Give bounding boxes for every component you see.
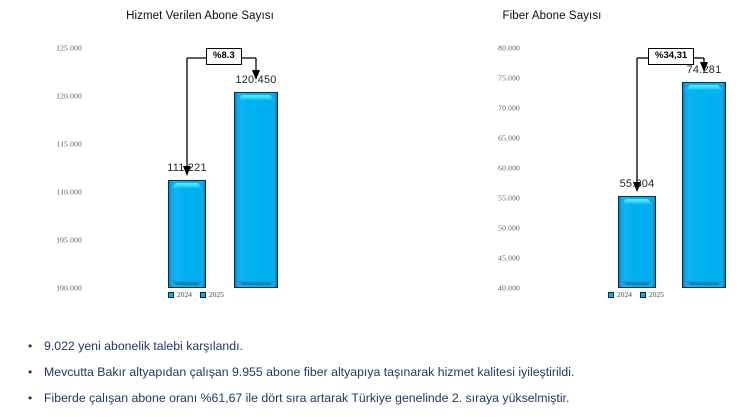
legend-swatch-icon-2025 xyxy=(200,292,206,298)
legend-item-left-2024[interactable]: 2024 xyxy=(168,290,192,299)
plot-area-left: 125.000 120.000 115.000 110.000 105.000 … xyxy=(30,48,410,288)
legend-item-left-2025[interactable]: 2025 xyxy=(200,290,224,299)
y-tick-left-1: 120.000 xyxy=(56,92,82,101)
legend-label-left-2024: 2024 xyxy=(177,290,192,299)
legend-swatch-icon-2024 xyxy=(608,292,614,298)
legend-swatch-icon-2025 xyxy=(640,292,646,298)
legend-label-left-2025: 2025 xyxy=(209,290,224,299)
bars-right: 55.304 74.281 %34,31 xyxy=(524,48,718,288)
y-tick-left-2: 115.000 xyxy=(57,140,83,149)
y-tick-left-0: 125.000 xyxy=(56,44,82,53)
legend-swatch-icon-2024 xyxy=(168,292,174,298)
legend-item-right-2024[interactable]: 2024 xyxy=(608,290,632,299)
legend-right: 2024 2025 xyxy=(608,290,664,299)
bullet-marker-icon: • xyxy=(28,388,44,408)
list-item: • Fiberde çalışan abone oranı %61,67 ile… xyxy=(0,388,740,414)
list-item: • 9.022 yeni abonelik talebi karşılandı. xyxy=(0,336,740,362)
growth-connector-right xyxy=(524,48,740,288)
bullet-marker-icon: • xyxy=(28,336,44,356)
y-tick-left-3: 110.000 xyxy=(57,188,83,197)
y-tick-right-8: 40.000 xyxy=(498,284,520,293)
y-tick-right-6: 50.000 xyxy=(498,224,520,233)
plot-area-right: 80.000 75.000 70.000 65.000 60.000 55.00… xyxy=(468,48,718,288)
chart-fiber-abone-sayisi: Fiber Abone Sayısı 80.000 75.000 70.000 … xyxy=(440,0,740,320)
y-tick-right-0: 80.000 xyxy=(498,44,520,53)
y-tick-right-2: 70.000 xyxy=(498,104,520,113)
bullet-text-0: 9.022 yeni abonelik talebi karşılandı. xyxy=(44,336,243,356)
growth-callout-left: %8.3 xyxy=(206,48,242,65)
bullet-text-2: Fiberde çalışan abone oranı %61,67 ile d… xyxy=(44,388,569,408)
legend-label-right-2024: 2024 xyxy=(617,290,632,299)
bars-left: 111.221 120.450 %8.3 xyxy=(86,48,410,288)
legend-label-right-2025: 2025 xyxy=(649,290,664,299)
chart-title-right: Fiber Abone Sayısı xyxy=(402,10,702,22)
y-axis-right: 80.000 75.000 70.000 65.000 60.000 55.00… xyxy=(468,48,524,288)
bullet-marker-icon: • xyxy=(28,362,44,382)
legend-left: 2024 2025 xyxy=(168,290,224,299)
y-axis-left: 125.000 120.000 115.000 110.000 105.000 … xyxy=(30,48,86,288)
chart-hizmet-verilen-abone-sayisi: Hizmet Verilen Abone Sayısı 125.000 120.… xyxy=(0,0,440,320)
legend-item-right-2025[interactable]: 2025 xyxy=(640,290,664,299)
y-tick-right-3: 65.000 xyxy=(498,134,520,143)
y-tick-right-5: 55.000 xyxy=(498,194,520,203)
list-item: • Mevcutta Bakır altyapıdan çalışan 9.95… xyxy=(0,362,740,388)
y-tick-right-1: 75.000 xyxy=(498,74,520,83)
y-tick-right-4: 60.000 xyxy=(498,164,520,173)
growth-callout-right: %34,31 xyxy=(648,48,694,65)
bullet-text-1: Mevcutta Bakır altyapıdan çalışan 9.955 … xyxy=(44,362,574,382)
chart-title-left: Hizmet Verilen Abone Sayısı xyxy=(0,10,420,22)
growth-connector-left xyxy=(86,48,346,288)
y-tick-left-4: 105.000 xyxy=(56,236,82,245)
bullet-list: • 9.022 yeni abonelik talebi karşılandı.… xyxy=(0,336,740,414)
y-tick-right-7: 45.000 xyxy=(498,254,520,263)
y-tick-left-5: 100.000 xyxy=(56,284,82,293)
